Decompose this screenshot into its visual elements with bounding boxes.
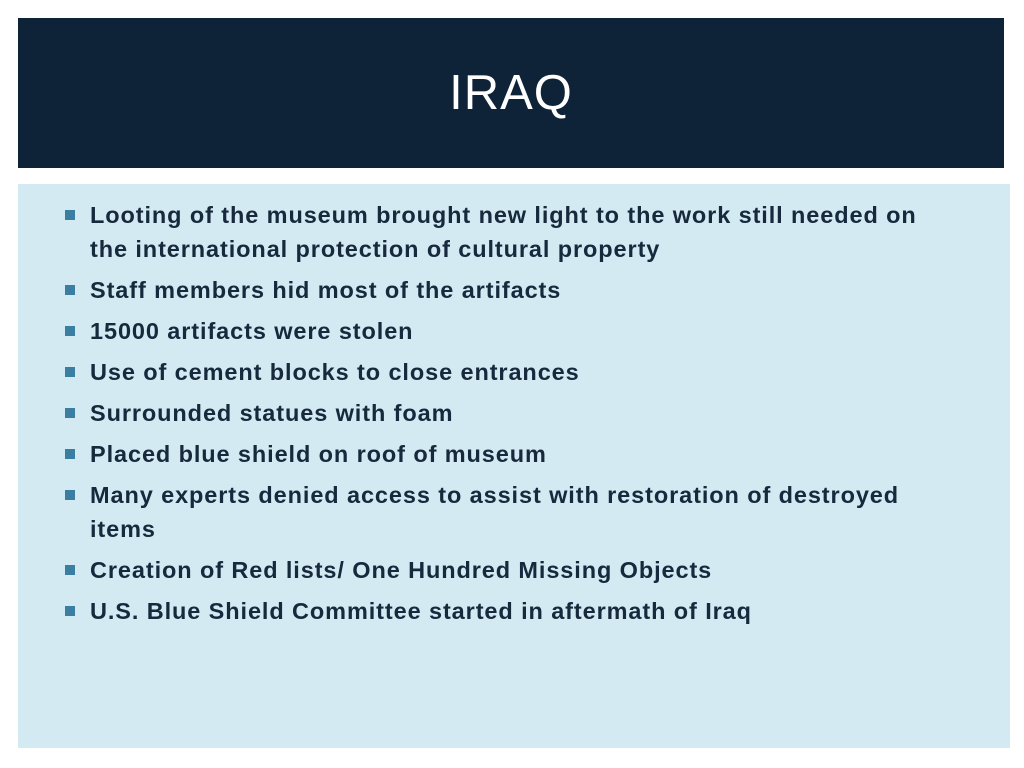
list-item: U.S. Blue Shield Committee started in af…: [62, 594, 940, 628]
bullet-text: Looting of the museum brought new light …: [90, 198, 940, 266]
square-bullet-icon: [65, 285, 75, 295]
square-bullet-icon: [65, 326, 75, 336]
bullet-text: U.S. Blue Shield Committee started in af…: [90, 594, 940, 628]
square-bullet-icon: [65, 367, 75, 377]
list-item: Staff members hid most of the artifacts: [62, 273, 940, 307]
list-item: Use of cement blocks to close entrances: [62, 355, 940, 389]
list-item: Many experts denied access to assist wit…: [62, 478, 940, 546]
list-item: Looting of the museum brought new light …: [62, 198, 940, 266]
square-bullet-icon: [65, 565, 75, 575]
slide-content-panel: Looting of the museum brought new light …: [18, 184, 1010, 748]
square-bullet-icon: [65, 408, 75, 418]
list-item: Creation of Red lists/ One Hundred Missi…: [62, 553, 940, 587]
list-item: 15000 artifacts were stolen: [62, 314, 940, 348]
square-bullet-icon: [65, 606, 75, 616]
list-item: Surrounded statues with foam: [62, 396, 940, 430]
presentation-slide: IRAQ Looting of the museum brought new l…: [0, 0, 1024, 768]
square-bullet-icon: [65, 449, 75, 459]
bullet-text: Placed blue shield on roof of museum: [90, 437, 940, 471]
slide-title-banner: IRAQ: [18, 18, 1004, 168]
square-bullet-icon: [65, 490, 75, 500]
bullet-text: Staff members hid most of the artifacts: [90, 273, 940, 307]
bullet-text: Use of cement blocks to close entrances: [90, 355, 940, 389]
list-item: Placed blue shield on roof of museum: [62, 437, 940, 471]
bullet-list: Looting of the museum brought new light …: [62, 198, 950, 628]
square-bullet-icon: [65, 210, 75, 220]
slide-title: IRAQ: [449, 69, 573, 118]
bullet-text: Creation of Red lists/ One Hundred Missi…: [90, 553, 940, 587]
bullet-text: 15000 artifacts were stolen: [90, 314, 940, 348]
bullet-text: Surrounded statues with foam: [90, 396, 940, 430]
bullet-text: Many experts denied access to assist wit…: [90, 478, 940, 546]
